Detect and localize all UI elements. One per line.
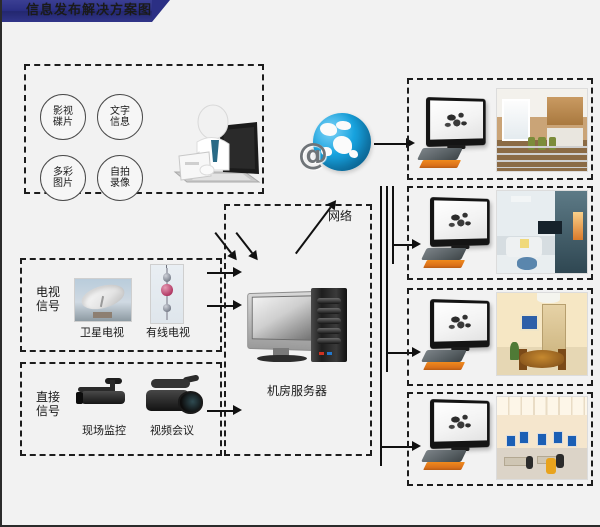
direct-signal-label-line1: 直接 xyxy=(28,390,68,404)
source-item-self-recording-line2: 录像 xyxy=(110,178,130,189)
source-item-colorful-pictures-line1: 多彩 xyxy=(53,167,73,178)
tv-signal-label: 电视 信号 xyxy=(28,285,68,313)
arrow-source-to-server-head xyxy=(233,267,242,277)
bus-line-3 xyxy=(392,186,394,264)
flat-tv-icon-3 xyxy=(430,300,492,348)
flat-tv-icon-4 xyxy=(430,400,492,448)
modern-living-room-photo xyxy=(496,190,588,274)
set-top-box-icon-4 xyxy=(424,450,464,470)
direct-signal-label-line2: 信号 xyxy=(28,404,68,418)
satellite-dish-icon xyxy=(74,278,132,322)
arrow-direct-to-server-shaft xyxy=(207,410,235,412)
set-top-box-icon-1 xyxy=(420,148,460,168)
flat-tv-icon-1 xyxy=(426,98,488,146)
cable-tv-caption: 有线电视 xyxy=(134,324,202,340)
set-top-box-icon-2 xyxy=(424,248,464,268)
dining-kitchen-room-photo xyxy=(496,88,588,172)
flat-tv-icon-2 xyxy=(430,198,492,246)
source-item-text-info-line1: 文字 xyxy=(110,106,130,117)
security-camera-icon xyxy=(76,378,134,418)
banner-tail-shape xyxy=(152,0,170,22)
site-monitoring-caption: 现场监控 xyxy=(68,422,140,438)
arrow-source-to-server-shaft xyxy=(207,272,235,274)
server-caption: 机房服务器 xyxy=(242,382,352,399)
at-symbol-icon: @ xyxy=(296,140,330,174)
tv-signal-label-line2: 信号 xyxy=(28,299,68,313)
bus-line-1 xyxy=(380,186,382,466)
source-item-text-info-line2: 信息 xyxy=(110,117,130,128)
source-item-self-recording-line1: 自拍 xyxy=(110,167,130,178)
bus-line-2 xyxy=(386,186,388,372)
office-workstations-photo xyxy=(496,396,588,480)
arrow-direct-to-server-head xyxy=(233,405,242,415)
source-item-video-disc[interactable]: 影视 碟片 xyxy=(40,94,86,140)
video-conference-caption: 视频会议 xyxy=(136,422,208,438)
source-item-colorful-pictures-line2: 图片 xyxy=(53,178,73,189)
tv-signal-label-line1: 电视 xyxy=(28,285,68,299)
diagram-canvas: 信息发布解决方案图 影视 碟片 文字 信息 多彩 图片 自拍 录像 xyxy=(0,0,600,527)
tv-tower-icon xyxy=(150,264,184,324)
desktop-server-icon xyxy=(245,288,349,364)
set-top-box-icon-3 xyxy=(424,350,464,370)
source-item-self-recording[interactable]: 自拍 录像 xyxy=(97,155,143,201)
source-item-video-disc-line1: 影视 xyxy=(53,106,73,117)
source-item-video-disc-line2: 碟片 xyxy=(53,117,73,128)
arrow-tv-to-server-shaft xyxy=(207,305,235,307)
page-title: 信息发布解决方案图 xyxy=(2,0,152,22)
person-at-laptop-icon xyxy=(167,100,263,186)
camcorder-icon xyxy=(142,374,204,418)
arrow-network-to-terminal-1-shaft xyxy=(374,143,408,145)
source-item-text-info[interactable]: 文字 信息 xyxy=(97,94,143,140)
arrow-tv-to-server-head xyxy=(233,300,242,310)
classic-dining-room-photo xyxy=(496,292,588,376)
satellite-tv-caption: 卫星电视 xyxy=(68,324,136,340)
source-item-colorful-pictures[interactable]: 多彩 图片 xyxy=(40,155,86,201)
direct-signal-label: 直接 信号 xyxy=(28,390,68,418)
